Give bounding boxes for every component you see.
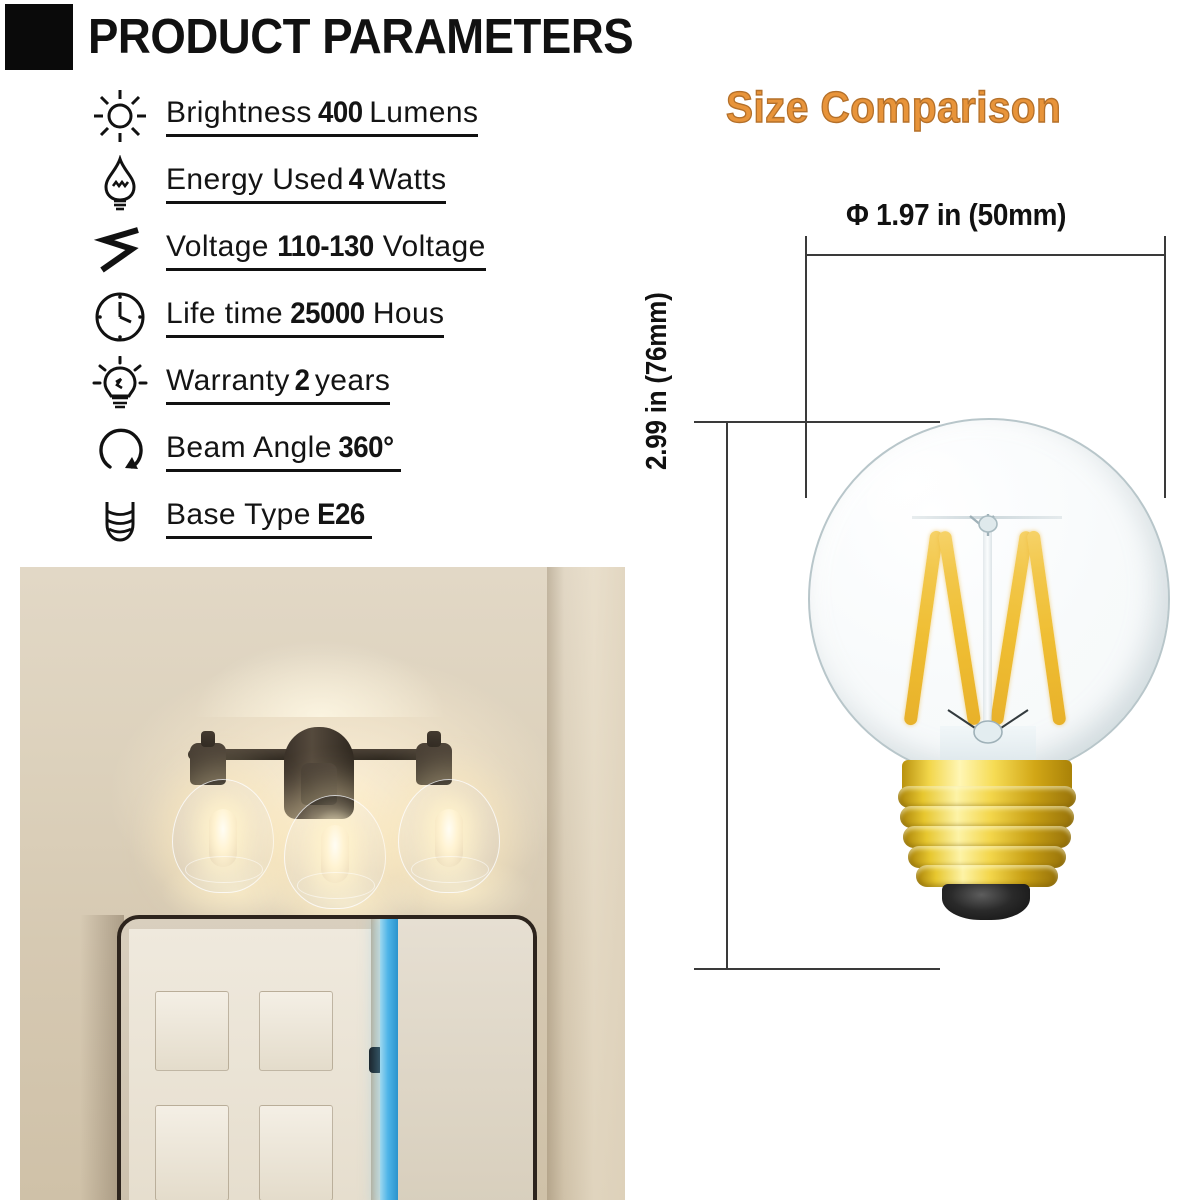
clock-icon — [92, 289, 148, 345]
spec-unit: years — [315, 363, 390, 399]
stem-base-mount — [940, 704, 1036, 748]
spec-unit: Lumens — [369, 95, 478, 131]
blue-light-gap — [380, 919, 398, 1200]
spec-value: 360° — [339, 430, 394, 466]
base-contact-tip — [942, 884, 1030, 920]
stem-top-mount — [960, 512, 1016, 538]
spec-label: Life time — [166, 296, 283, 332]
spec-value: 110-130 — [278, 229, 375, 265]
reflected-wall — [398, 919, 533, 1200]
diameter-dimension-line — [805, 254, 1165, 256]
wall-mirror — [117, 915, 537, 1200]
spec-label: Warranty — [166, 363, 290, 399]
page-header: PRODUCT PARAMETERS — [0, 0, 700, 78]
spec-label: Brightness — [166, 95, 312, 131]
size-comparison-title: Size Comparison — [726, 83, 1061, 133]
spec-label: Energy Used — [166, 162, 344, 198]
glass-stem — [983, 526, 992, 726]
page-title: PRODUCT PARAMETERS — [88, 6, 633, 68]
spec-label: Base Type — [166, 497, 311, 533]
spec-text-energy-used: Energy Used 4 Watts — [166, 162, 446, 204]
spec-unit: Hous — [373, 296, 445, 332]
spec-value: 400 — [318, 95, 363, 131]
spec-unit: Voltage — [383, 229, 486, 265]
lightning-icon — [92, 222, 148, 278]
bathroom-vanity-light-photo — [20, 567, 625, 1200]
spec-text-warranty: Warranty 2 years — [166, 363, 390, 405]
reflected-door — [129, 929, 375, 1200]
socket-neck-right — [427, 731, 441, 747]
sun-icon — [92, 88, 148, 144]
spec-unit: Watts — [369, 162, 447, 198]
spec-row-brightness: Brightness 400 Lumens — [0, 82, 660, 149]
glass-globe-left — [172, 779, 274, 893]
lamp-center — [321, 825, 349, 883]
glass-globe-center — [284, 795, 386, 909]
screw-base-icon — [92, 490, 148, 546]
spec-text-beam-angle: Beam Angle 360° — [166, 430, 401, 472]
lamp-right — [435, 809, 463, 867]
spec-value: 4 — [349, 162, 364, 198]
spec-text-voltage: Voltage 110-130 Voltage — [166, 229, 486, 271]
spec-row-voltage: Voltage 110-130 Voltage — [0, 216, 660, 283]
spec-list: Brightness 400 Lumens Energy Used 4 Watt… — [0, 82, 660, 551]
spec-text-brightness: Brightness 400 Lumens — [166, 95, 478, 137]
ceiling-light-glow — [140, 567, 500, 717]
spec-value: 25000 — [291, 296, 365, 332]
e26-brass-screw-base — [894, 760, 1080, 918]
shining-bulb-icon — [92, 356, 148, 412]
base-thread-2 — [900, 806, 1074, 828]
door-panel-top-left — [155, 991, 229, 1071]
diameter-dimension-label: Φ 1.97 in (50mm) — [846, 196, 1066, 234]
spec-text-life-time: Life time 25000 Hous — [166, 296, 444, 338]
spec-row-warranty: Warranty 2 years — [0, 350, 660, 417]
wall-corner — [547, 567, 625, 1200]
black-square-bullet-icon — [5, 4, 73, 70]
glass-globe-right — [398, 779, 500, 893]
height-dimension-line — [726, 422, 728, 970]
door-panel-bottom-left — [155, 1105, 229, 1200]
spec-row-beam-angle: Beam Angle 360° — [0, 417, 660, 484]
spec-row-energy-used: Energy Used 4 Watts — [0, 149, 660, 216]
g45-clear-globe-led-filament-bulb — [790, 408, 1185, 978]
height-dimension-label: 2.99 in (76mm) — [640, 236, 674, 470]
lamp-left — [209, 809, 237, 867]
door-panel-top-right — [259, 991, 333, 1071]
spec-row-life-time: Life time 25000 Hous — [0, 283, 660, 350]
spec-value: 2 — [295, 363, 310, 399]
spec-value: E26 — [317, 497, 365, 533]
spec-row-base-type: Base Type E26 — [0, 484, 660, 551]
spec-label: Voltage — [166, 229, 269, 265]
socket-neck-left — [201, 731, 215, 747]
base-thread-1 — [898, 786, 1076, 808]
spec-label: Beam Angle — [166, 430, 332, 466]
spec-text-base-type: Base Type E26 — [166, 497, 372, 539]
base-thread-3 — [903, 826, 1071, 848]
circular-arrow-icon — [92, 423, 148, 479]
door-panel-bottom-right — [259, 1105, 333, 1200]
bulb-flame-icon — [92, 155, 148, 211]
